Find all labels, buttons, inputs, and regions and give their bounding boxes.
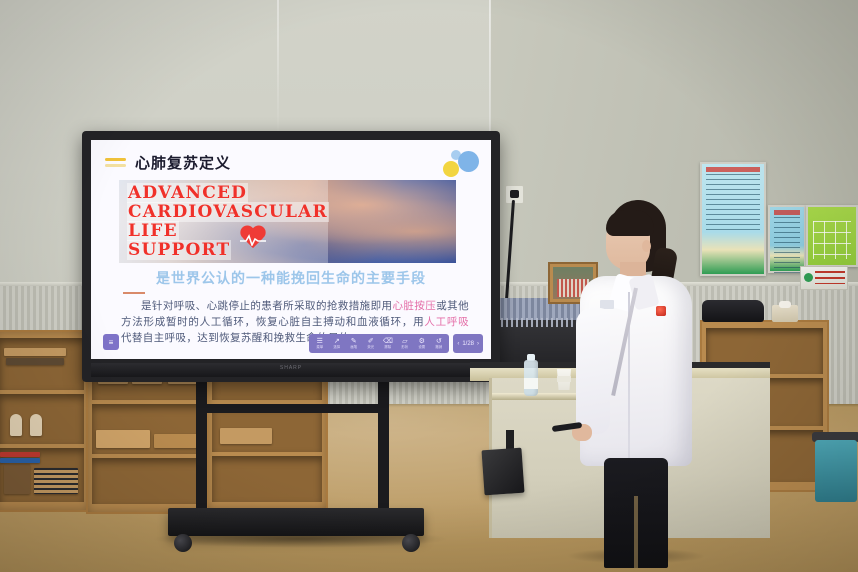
- notice-board-text-lines: [706, 174, 760, 230]
- shelf-item-tray: [154, 434, 198, 448]
- menu-icon[interactable]: ☰菜单: [311, 335, 328, 352]
- tissue-sheet-icon: [779, 301, 791, 308]
- shelf-item: [4, 464, 30, 494]
- banner-line-3: LIFE: [127, 221, 179, 241]
- black-bag: [702, 300, 764, 322]
- ear: [642, 240, 651, 252]
- notice-board-header: [774, 210, 800, 215]
- cart-crossbar: [200, 404, 382, 413]
- shelf-item-stack: [34, 468, 78, 494]
- sign-text-lines: [815, 271, 845, 284]
- sign-dot-icon: [804, 273, 813, 282]
- chart-grid: [813, 221, 851, 259]
- pen-icon[interactable]: ✎画笔: [345, 335, 362, 352]
- shelf-item-tray: [96, 430, 150, 448]
- cart-leg-right: [378, 382, 389, 514]
- banner-line-4: SUPPORT: [127, 240, 231, 260]
- toolbar-pager[interactable]: ‹ 1/28 ›: [453, 334, 483, 353]
- cart-caster: [174, 534, 192, 552]
- shape-icon[interactable]: ▱形状: [396, 335, 413, 352]
- notice-board-small: [768, 205, 806, 273]
- notice-board-green-chart: [806, 205, 858, 267]
- shelf-item: [0, 452, 40, 457]
- notice-board-header: [706, 167, 760, 172]
- cart-base: [168, 508, 424, 536]
- page-indicator: 1/28: [462, 341, 474, 347]
- circle-large-blue-icon: [458, 151, 479, 172]
- presentation-toolbar[interactable]: ☰菜单 ↗选择 ✎画笔 ✐荧光 ⌫擦除 ▱形状 ⚙设置 ↺撤销 ‹ 1/28 ›: [309, 334, 483, 353]
- wall-edge-seam: [277, 0, 279, 140]
- slide-menu-badge[interactable]: ≡: [103, 334, 119, 350]
- presenter: [576, 196, 696, 572]
- eraser-icon[interactable]: ⌫擦除: [379, 335, 396, 352]
- ecg-line-icon: [240, 234, 266, 246]
- body-highlight-1: 心脏按压: [392, 300, 436, 312]
- bottle-label: [524, 378, 538, 389]
- trouser-leg-gap: [634, 496, 638, 568]
- shelf-bay: [92, 458, 204, 504]
- prev-page-icon[interactable]: ‹: [457, 341, 459, 347]
- display-bezel-bottom: SHARP: [91, 363, 491, 377]
- cart-caster: [402, 534, 420, 552]
- cart-leg-left: [196, 382, 207, 514]
- banner-headline: ADVANCED CARDIOVASCULAR LIFE SUPPORT: [127, 184, 456, 260]
- banner-line-2: CARDIOVASCULAR: [127, 202, 329, 222]
- title-decoration-icon: [105, 158, 126, 167]
- body-highlight-2: 人工呼吸: [424, 316, 469, 328]
- shelf-item-cone: [30, 414, 42, 436]
- slide-title-row: 心肺复苏定义: [105, 152, 231, 173]
- left-arm: [576, 308, 610, 434]
- shelf-item: [0, 458, 40, 463]
- socket-icon: [510, 190, 519, 198]
- slide-title: 心肺复苏定义: [135, 152, 231, 173]
- next-page-icon[interactable]: ›: [477, 341, 479, 347]
- paper-cup-band: [557, 376, 571, 382]
- shelf-item-cone: [10, 414, 22, 436]
- circle-yellow-icon: [443, 161, 459, 177]
- body-part-1: 是针对呼吸、心跳停止的患者所采取的抢救措施即用: [141, 300, 392, 312]
- display-brand-label: SHARP: [280, 365, 302, 371]
- trash-bin: [815, 440, 857, 502]
- pointer-icon[interactable]: ↗选择: [328, 335, 345, 352]
- shelf-bay: [212, 456, 322, 502]
- toolbar-tools-group[interactable]: ☰菜单 ↗选择 ✎画笔 ✐荧光 ⌫擦除 ▱形状 ⚙设置 ↺撤销: [309, 334, 449, 353]
- slide-divider: [123, 292, 145, 294]
- notice-board-text-lines: [774, 217, 800, 273]
- settings-icon[interactable]: ⚙设置: [413, 335, 430, 352]
- interactive-display[interactable]: 心肺复苏定义 ADVANCED CARDIOVASCULAR LIFE SUPP…: [82, 131, 500, 382]
- shelf-item-tray: [220, 428, 272, 444]
- wall-sign: [800, 266, 848, 290]
- red-emblem-pin: [656, 306, 666, 316]
- speaker: [481, 448, 524, 496]
- slide-banner-image: ADVANCED CARDIOVASCULAR LIFE SUPPORT: [119, 180, 456, 263]
- classroom-photo-scene: 心肺复苏定义 ADVANCED CARDIOVASCULAR LIFE SUPP…: [0, 0, 858, 572]
- slide-decoration-circles: [437, 150, 481, 184]
- hair-front: [606, 210, 654, 236]
- shelf-unit-left: [0, 330, 90, 512]
- banner-line-1: ADVANCED: [127, 183, 248, 203]
- highlighter-icon[interactable]: ✐荧光: [362, 335, 379, 352]
- display-screen[interactable]: 心肺复苏定义 ADVANCED CARDIOVASCULAR LIFE SUPP…: [91, 140, 491, 359]
- shelf-item: [4, 348, 66, 356]
- slide-subtitle: 是世界公认的一种能挽回生命的主要手段: [91, 268, 491, 288]
- undo-icon[interactable]: ↺撤销: [430, 335, 447, 352]
- notice-board-large: [700, 162, 766, 276]
- shelf-item: [6, 358, 64, 365]
- presentation-slide[interactable]: 心肺复苏定义 ADVANCED CARDIOVASCULAR LIFE SUPP…: [91, 140, 491, 359]
- tissue-box: [772, 305, 798, 322]
